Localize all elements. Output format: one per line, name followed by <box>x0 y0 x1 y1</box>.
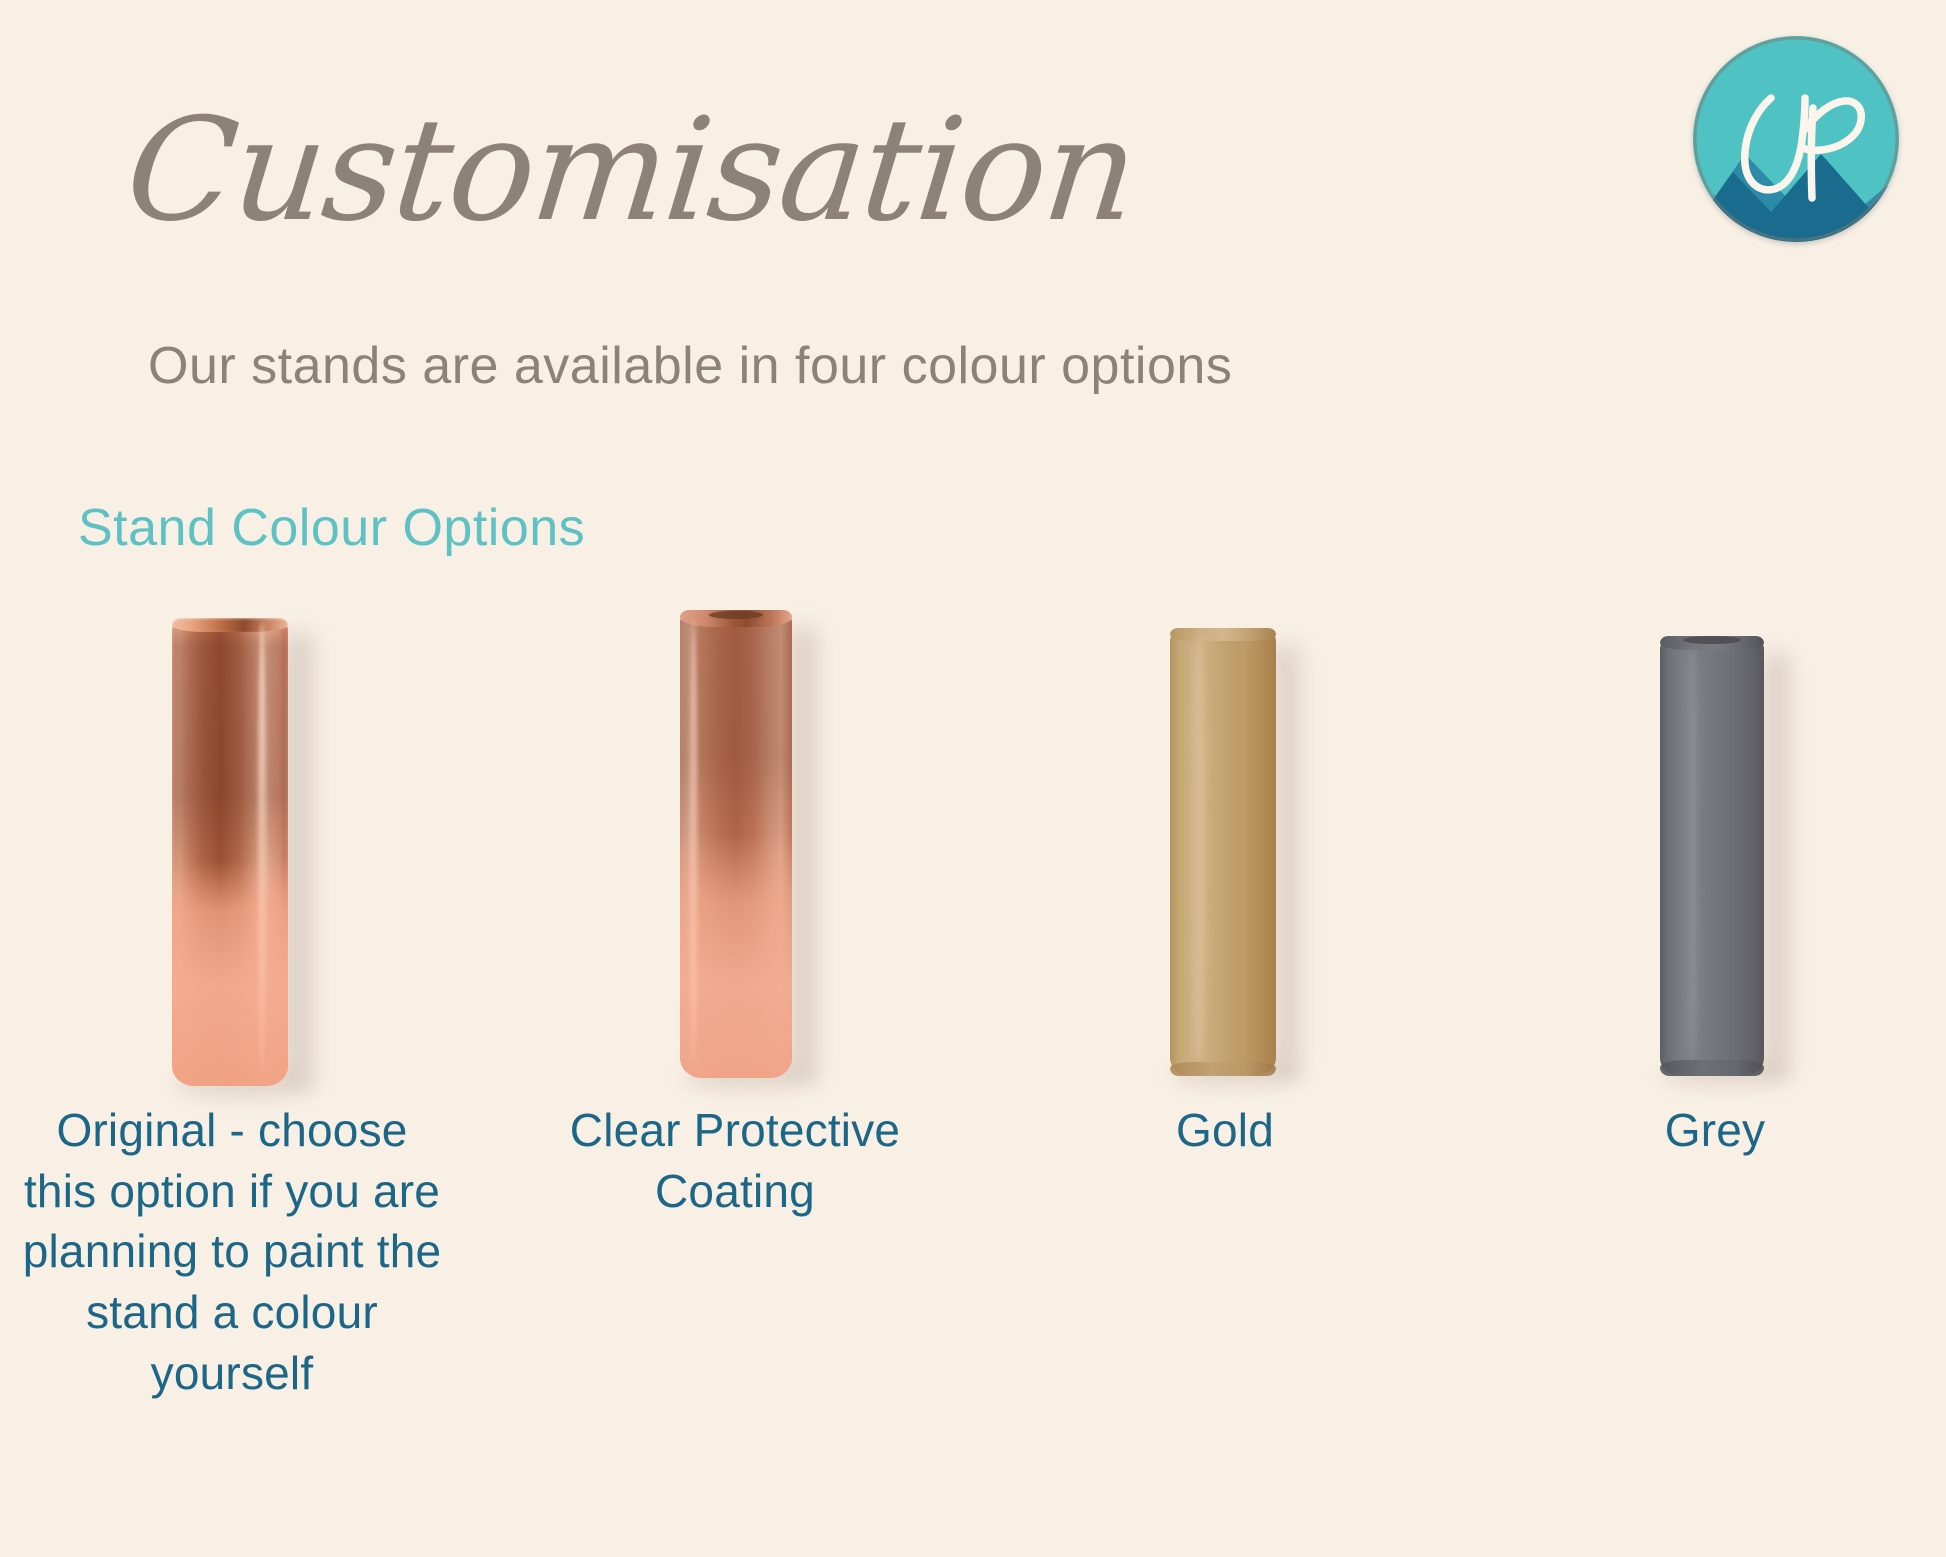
cylinder-highlight <box>690 620 697 1064</box>
cylinder-bottom-rim <box>1660 1060 1764 1076</box>
cylinder-highlight <box>1685 646 1700 1064</box>
cylinder-bottom-rim <box>1170 1062 1276 1076</box>
cylinder-grey[interactable] <box>1660 636 1764 1076</box>
cylinder-bore <box>1683 636 1741 644</box>
cylinder-gold[interactable] <box>1170 628 1276 1076</box>
cylinder-lower-fade <box>172 861 288 1086</box>
cylinder-top-rim <box>1170 628 1276 641</box>
cylinder-highlight <box>258 622 266 1076</box>
cylinder-highlight <box>1191 634 1208 1066</box>
swatch-grey[interactable]: Grey <box>0 0 1946 1557</box>
slide-canvas: Customisation Our stands are available i… <box>0 0 1946 1557</box>
cylinder-shadow-grey <box>1762 652 1790 1076</box>
cylinder-original[interactable] <box>172 618 288 1086</box>
cylinder-bore <box>709 611 763 619</box>
swatch-label-grey: Grey <box>1530 1100 1900 1161</box>
cylinder-top-rim <box>172 618 288 632</box>
cylinder-clear-protective-coating[interactable] <box>680 610 792 1078</box>
cylinder-lower-fade <box>680 835 792 1078</box>
